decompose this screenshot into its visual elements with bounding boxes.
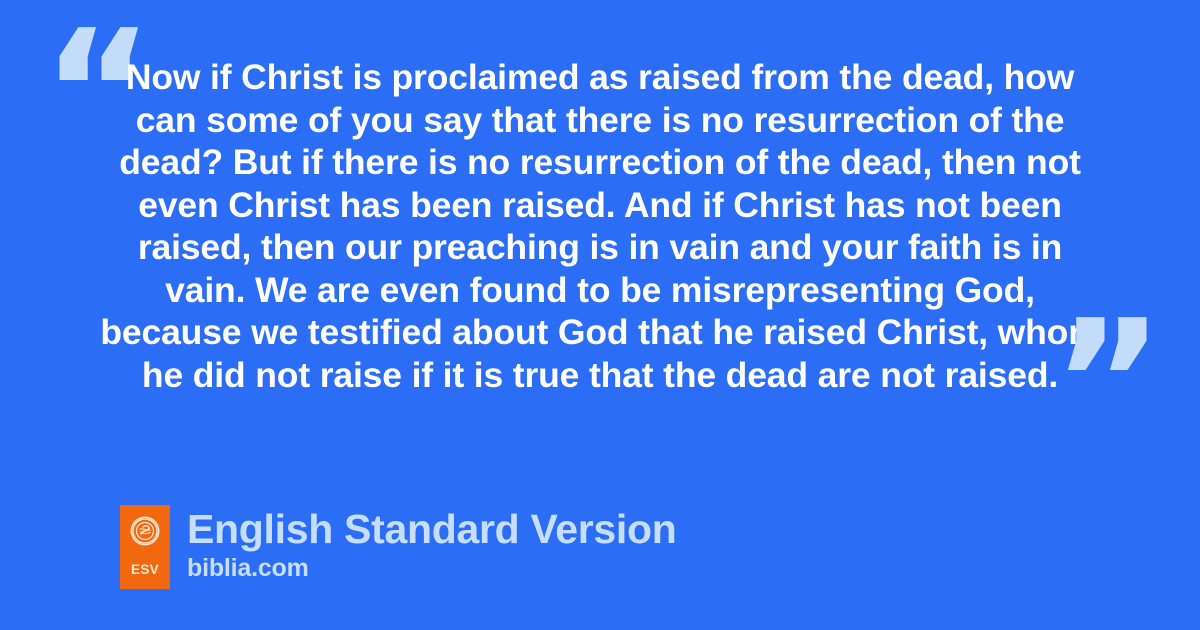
esv-logo: ESV — [120, 505, 170, 589]
quote-block: Now if Christ is proclaimed as raised fr… — [100, 56, 1100, 396]
esv-abbreviation: ESV — [120, 563, 170, 577]
attribution-text: English Standard Version biblia.com — [187, 505, 676, 582]
closing-quote-icon: ” — [1052, 298, 1162, 468]
esv-seal-icon — [129, 515, 161, 547]
quote-text: Now if Christ is proclaimed as raised fr… — [100, 56, 1100, 396]
site-name: biblia.com — [187, 554, 676, 582]
attribution: ESV English Standard Version biblia.com — [120, 505, 676, 589]
bible-version-name: English Standard Version — [187, 506, 676, 553]
quote-card: “ Now if Christ is proclaimed as raised … — [0, 0, 1200, 630]
